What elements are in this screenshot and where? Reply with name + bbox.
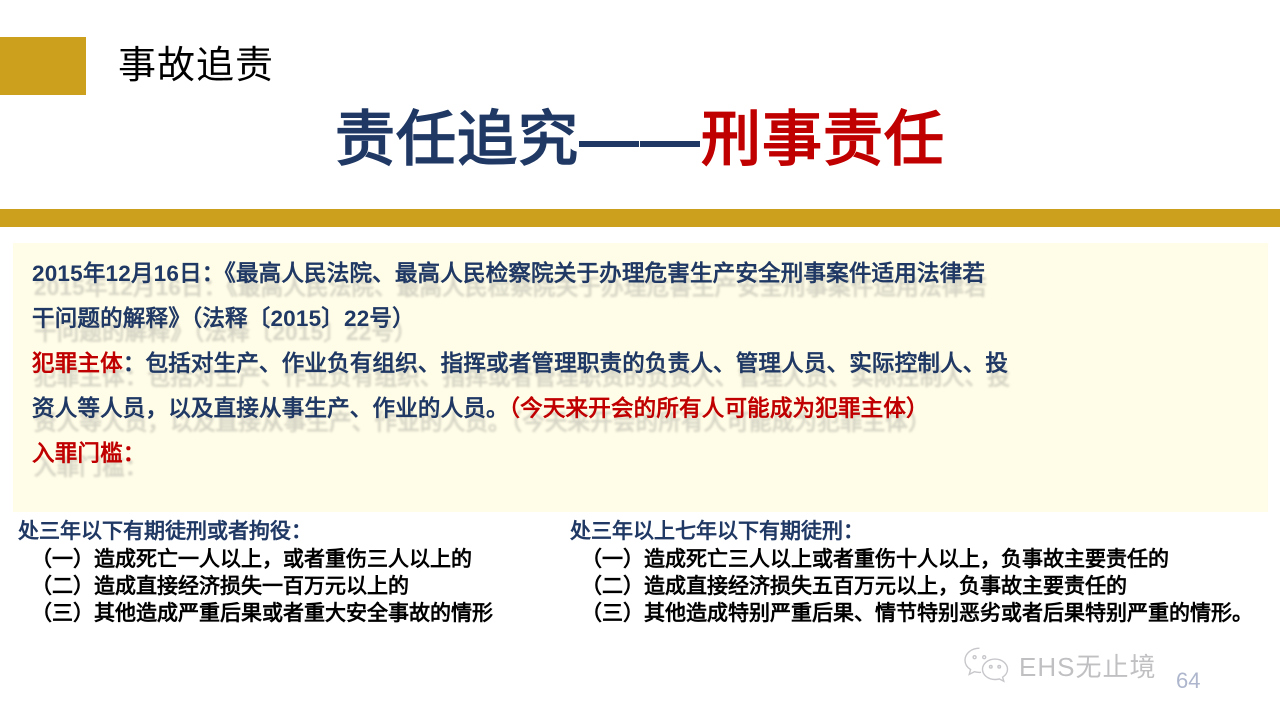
panel-segment: 资人等人员，以及直接从事生产、作业的人员。 — [32, 396, 509, 421]
page-title-primary: 责任追究—— — [335, 106, 701, 173]
column-item: （三）其他造成严重后果或者重大安全事故的情形 — [18, 600, 563, 627]
panel-segment: 干问题的解释》（法释〔2015〕22号） — [32, 306, 415, 331]
panel-line: 犯罪主体：包括对生产、作业负有组织、指挥或者管理职责的负责人、管理人员、实际控制… — [32, 341, 1260, 386]
header-kicker: 事故追责 — [118, 40, 274, 92]
page-number: 64 — [1176, 668, 1200, 694]
column-heading: 处三年以下有期徒刑或者拘役： — [18, 518, 563, 546]
highlight-panel: 2015年12月16日：《最高人民法院、最高人民检察院关于办理危害生产安全刑事案… — [13, 243, 1268, 512]
panel-segment: 2015年12月16日：《最高人民法院、最高人民检察院关于办理危害生产安全刑事案… — [32, 261, 985, 286]
panel-segment-emphasis: （今天来开会的所有人可能成为犯罪主体） — [509, 396, 929, 421]
page-title-accent: 刑事责任 — [701, 106, 945, 173]
panel-segment-emphasis: 入罪门槛： — [32, 441, 146, 466]
slide-canvas: 事故追责 责任追究——刑事责任 2015年12月16日：《最高人民法院、最高人民… — [0, 0, 1280, 720]
column-item: （二）造成直接经济损失五百万元以上，负事故主要责任的 — [570, 573, 1260, 600]
column-item: （二）造成直接经济损失一百万元以上的 — [18, 573, 563, 600]
panel-line: 2015年12月16日：《最高人民法院、最高人民检察院关于办理危害生产安全刑事案… — [32, 251, 1260, 296]
wechat-icon — [962, 645, 1010, 688]
panel-segment: ：包括对生产、作业负有组织、指挥或者管理职责的负责人、管理人员、实际控制人、投 — [123, 351, 1008, 376]
header-accent-swatch — [0, 37, 86, 95]
watermark-label: EHS无止境 — [1019, 652, 1156, 682]
column-item: （三）其他造成特别严重后果、情节特别恶劣或者后果特别严重的情形。 — [570, 600, 1260, 627]
column-item: （一）造成死亡三人以上或者重伤十人以上，负事故主要责任的 — [570, 546, 1260, 573]
panel-line: 入罪门槛： — [32, 431, 1260, 476]
gold-divider — [0, 209, 1280, 227]
highlight-panel-body: 2015年12月16日：《最高人民法院、最高人民检察院关于办理危害生产安全刑事案… — [32, 251, 1260, 476]
watermark: EHS无止境 — [962, 645, 1156, 688]
penalty-column-greater: 处三年以上七年以下有期徒刑： （一）造成死亡三人以上或者重伤十人以上，负事故主要… — [570, 518, 1260, 627]
column-item: （一）造成死亡一人以上，或者重伤三人以上的 — [18, 546, 563, 573]
page-title: 责任追究——刑事责任 — [0, 103, 1280, 177]
penalty-column-lesser: 处三年以下有期徒刑或者拘役： （一）造成死亡一人以上，或者重伤三人以上的 （二）… — [18, 518, 563, 627]
panel-segment-emphasis: 犯罪主体 — [32, 351, 123, 376]
panel-line: 资人等人员，以及直接从事生产、作业的人员。（今天来开会的所有人可能成为犯罪主体） — [32, 386, 1260, 431]
column-heading: 处三年以上七年以下有期徒刑： — [570, 518, 1260, 546]
panel-line: 干问题的解释》（法释〔2015〕22号） — [32, 296, 1260, 341]
